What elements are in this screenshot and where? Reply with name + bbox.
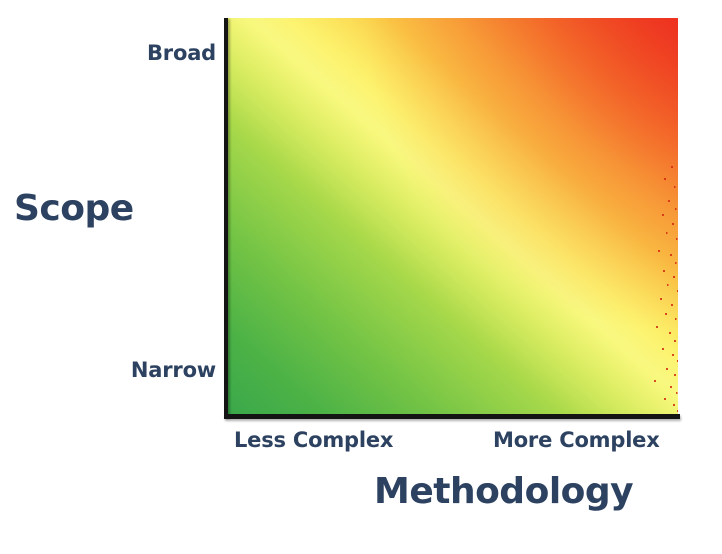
y-axis-tick-broad: Broad xyxy=(147,41,216,65)
x-axis-tick-more-complex: More Complex xyxy=(493,428,660,452)
gradient-fill xyxy=(226,18,678,416)
x-axis-tick-less-complex: Less Complex xyxy=(234,428,393,452)
plot-area xyxy=(226,18,678,416)
x-axis-line xyxy=(224,414,680,419)
x-axis-title: Methodology xyxy=(374,471,633,512)
y-axis-tick-narrow: Narrow xyxy=(131,358,216,382)
y-axis-line xyxy=(224,18,228,418)
y-axis-title: Scope xyxy=(14,188,134,229)
scope-methodology-gradient-chart: Broad Narrow Scope Less Complex More Com… xyxy=(0,0,722,554)
